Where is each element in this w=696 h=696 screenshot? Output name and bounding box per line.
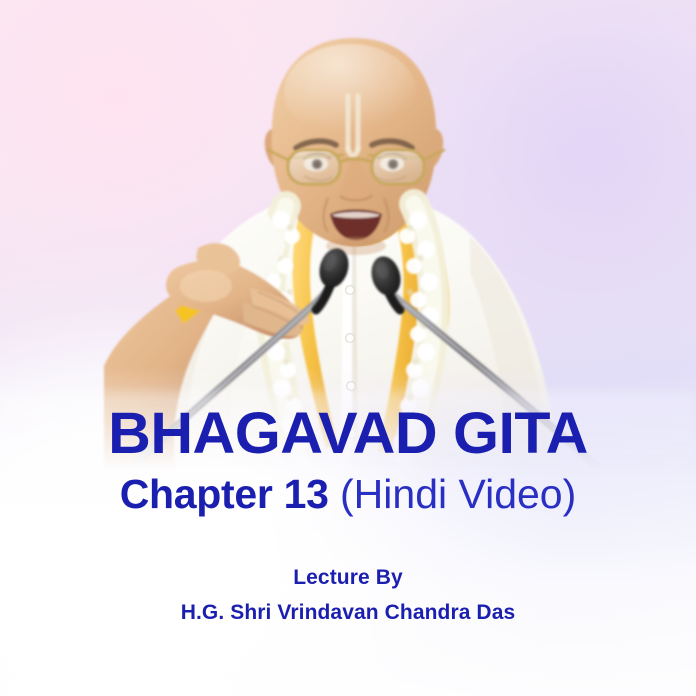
language-format-label: (Hindi Video) — [329, 471, 577, 517]
speaker-name: H.G. Shri Vrindavan Chandra Das — [0, 601, 696, 625]
lecture-by-label: Lecture By — [0, 566, 696, 590]
credit-block: Lecture By H.G. Shri Vrindavan Chandra D… — [0, 566, 696, 625]
headline-block: BHAGAVAD GITA Chapter 13 (Hindi Video) — [0, 404, 696, 516]
speaker-photo: Elderly bald man with eyeglasses, forehe… — [0, 0, 696, 470]
page-title: BHAGAVAD GITA — [0, 404, 696, 463]
chapter-label: Chapter 13 — [120, 471, 329, 517]
subtitle-line: Chapter 13 (Hindi Video) — [0, 473, 696, 516]
poster-canvas: Elderly bald man with eyeglasses, forehe… — [0, 0, 696, 696]
